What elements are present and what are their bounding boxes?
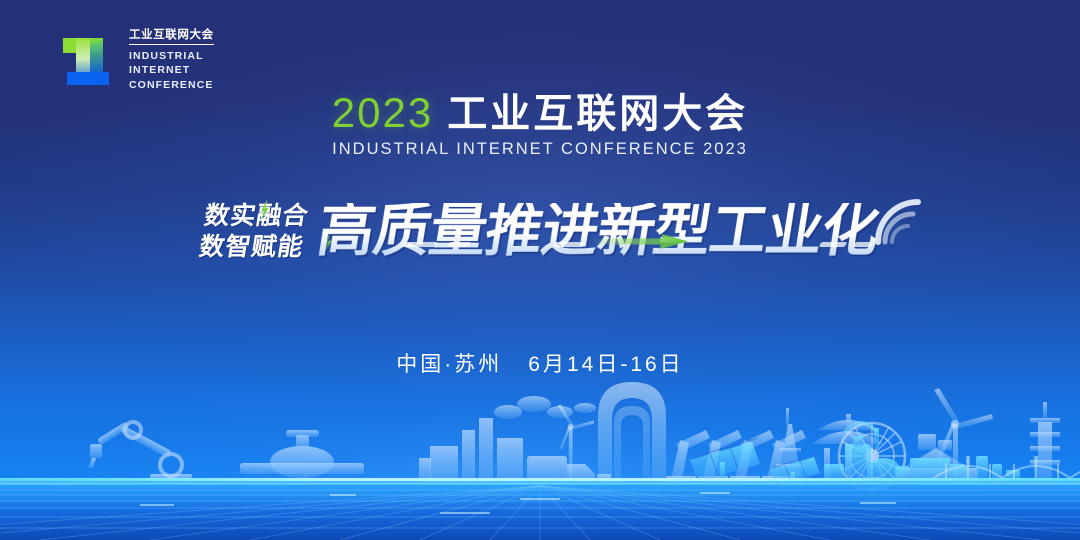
conference-logo[interactable]: 工业互联网大会 INDUSTRIAL INTERNET CONFERENCE [57,30,214,92]
logo-en-line-3: CONFERENCE [129,78,214,92]
slogan-secondary-line-2: 数智赋能 [197,233,305,261]
industrial-internet-conference-logo-icon [57,30,119,92]
speed-line [447,242,472,247]
logo-wordmark: 工业互联网大会 INDUSTRIAL INTERNET CONFERENCE [129,30,214,92]
logo-english-name: INDUSTRIAL INTERNET CONFERENCE [129,49,214,92]
slogan-inner: 数实融合 数智赋能 高质量推进新型工业化 [202,202,878,261]
speed-line [401,242,438,247]
storage-tank-icon [824,423,901,486]
conference-title: 2023 工业互联网大会 [0,92,1080,134]
title-english-subtitle: INDUSTRIAL INTERNET CONFERENCE 2023 [0,140,1080,159]
slogan-secondary-line-1: 数实融合 [202,202,310,230]
title-year: 2023 [332,92,433,134]
slogan-secondary: 数实融合 数智赋能 [197,202,310,261]
perspective-grid-ground [0,478,1080,540]
conference-banner: 工业互联网大会 INDUSTRIAL INTERNET CONFERENCE 2… [0,0,1080,540]
logo-en-line-1: INDUSTRIAL [129,49,214,63]
logo-en-line-2: INTERNET [129,63,214,77]
title-chinese: 工业互联网大会 [447,94,748,134]
industrial-city-skyline-right [0,352,1080,492]
conference-slogan: 数实融合 数智赋能 高质量推进新型工业化 [0,176,1080,286]
speed-line [553,242,586,247]
speed-line [819,242,848,247]
slogan-primary: 高质量推进新型工业化 [313,203,882,260]
logo-chinese-name: 工业互联网大会 [129,30,214,45]
speed-line [853,242,874,247]
